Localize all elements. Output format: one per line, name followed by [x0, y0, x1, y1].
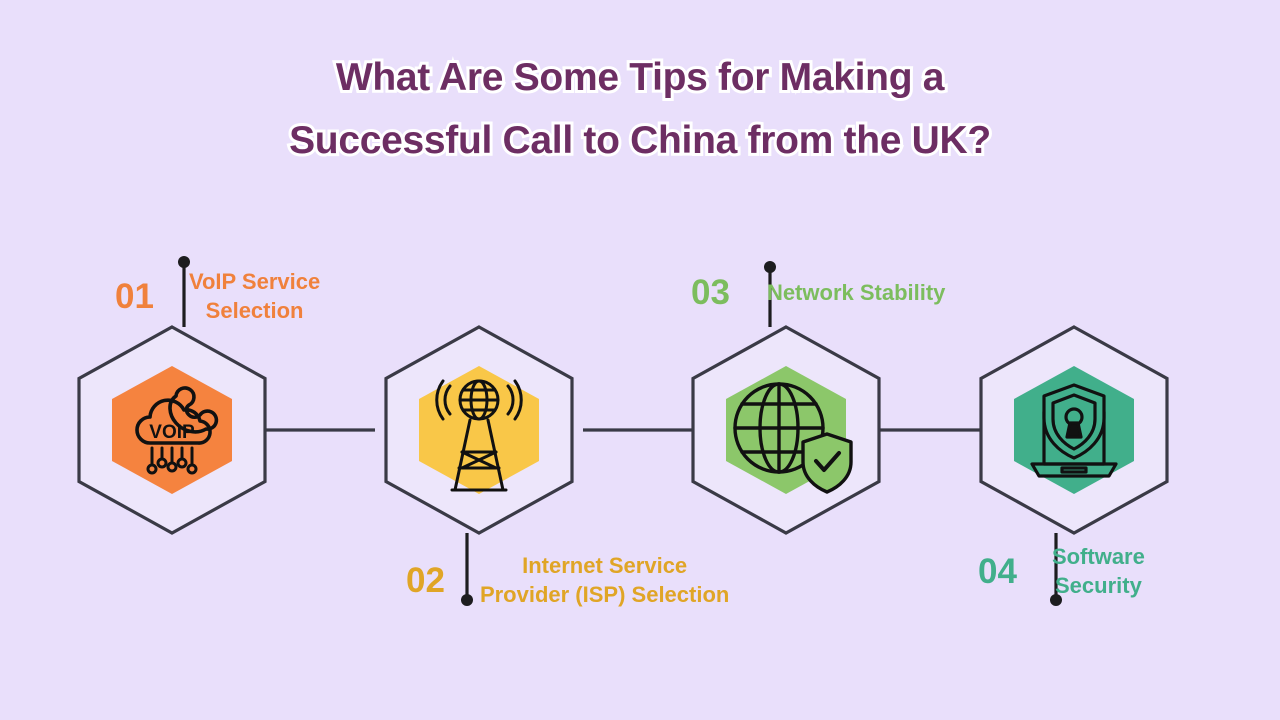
step-text-4-line2: Security [1052, 571, 1145, 600]
step-text-2-line2: Provider (ISP) Selection [480, 580, 729, 609]
step-number-2: 02 [406, 563, 445, 598]
step-label-1[interactable]: 01 VoIP Service Selection [115, 267, 320, 326]
step-text-2: Internet Service Provider (ISP) Selectio… [480, 551, 729, 610]
step-text-1: VoIP Service Selection [189, 267, 320, 326]
step-number-3: 03 [691, 275, 730, 310]
step-text-4: Software Security [1052, 542, 1145, 601]
step-label-3[interactable]: 03 Network Stability [691, 275, 945, 310]
stem-dot-3 [764, 261, 776, 273]
step-label-4[interactable]: 04 Software Security [978, 542, 1145, 601]
step-label-2[interactable]: 02 Internet Service Provider (ISP) Selec… [406, 551, 729, 610]
step-text-1-line2: Selection [189, 296, 320, 325]
step-text-1-line1: VoIP Service [189, 267, 320, 296]
hexagon-process-diagram: VOIP [0, 0, 1280, 720]
step-number-4: 04 [978, 554, 1017, 589]
step-text-4-line1: Software [1052, 542, 1145, 571]
voip-icon-text: VOIP [149, 422, 195, 443]
step-text-2-line1: Internet Service [480, 551, 729, 580]
step-text-3-line1: Network Stability [767, 278, 945, 307]
step-text-3: Network Stability [767, 278, 945, 307]
step-number-1: 01 [115, 279, 154, 314]
